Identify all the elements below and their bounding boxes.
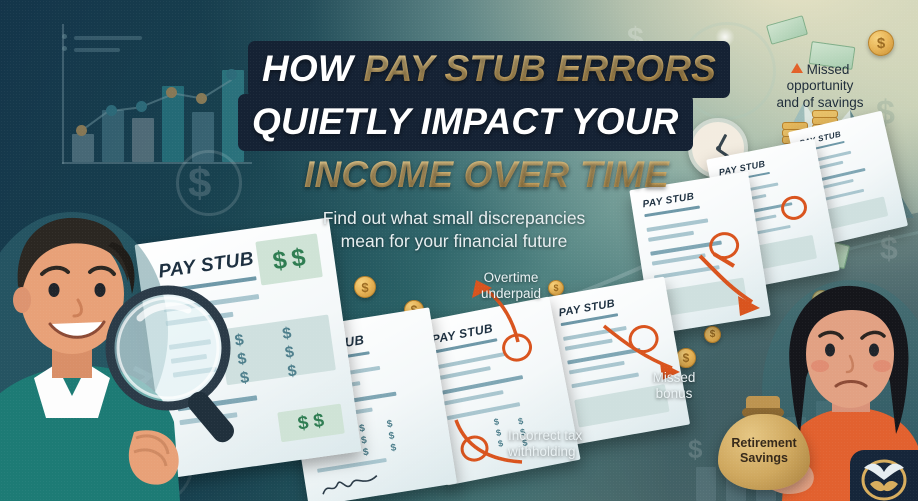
annotation-line: and of savings [776,95,863,110]
annotation-incorrect-tax: Incorrect tax withholding [508,428,628,461]
coin-icon: $ [868,30,894,56]
chart-marker [166,87,177,98]
subtitle-line-2: mean for your financial future [341,231,568,251]
annotation-line: opportunity [787,78,854,93]
title-line-1: HOW PAY STUB ERRORS [248,41,730,98]
title-segment-pay-stub-errors: PAY STUB ERRORS [364,48,717,89]
dollar-sign-icon: $ [880,232,898,264]
title-line-3: INCOME OVER TIME [290,147,683,204]
annotation-line: Missed [653,370,696,385]
chart-y-axis [62,24,64,164]
coin-icon: $ [354,276,376,298]
annotation-overtime-underpaid: Overtime underpaid [452,270,570,303]
chart-legend-line-2 [74,48,120,52]
chart-marker [106,105,117,116]
error-pointer-arrows [420,250,560,360]
annotation-line: Missed [807,62,850,77]
title-line-2: QUIETLY IMPACT YOUR [238,94,693,151]
chart-marker [136,101,147,112]
dollar-amount-badge: $$ [277,404,345,443]
brand-logo-badge[interactable] [850,450,918,501]
warning-triangle-icon [791,63,803,73]
annotation-missed-bonus: Missed bonus [626,370,722,403]
money-bag-line-2: Savings [740,451,788,465]
annotation-line: Incorrect tax [508,428,582,443]
chart-marker [76,125,87,136]
subtitle: Find out what small discrepancies mean f… [238,207,670,254]
annotation-line: withholding [508,444,576,459]
title-segment-how: HOW [262,48,364,89]
subtitle-line-1: Find out what small discrepancies [323,208,586,228]
dollar-sign-icon: $ [312,410,326,433]
annotation-line: bonus [656,386,693,401]
chart-legend-dot-2 [62,46,67,51]
chart-legend-dot-1 [62,34,67,39]
chart-legend-line-1 [74,36,142,40]
signature [319,469,383,498]
money-bag-retirement-savings: Retirement Savings [716,396,812,492]
chart-marker [226,69,237,80]
error-highlight-circle [779,194,809,223]
annotation-line: underpaid [481,286,541,301]
banknote-icon [766,15,808,45]
magnifying-glass-icon [96,282,256,452]
dollar-sign-icon: $ [688,436,702,462]
amount-column: $$$ [386,419,397,455]
dollar-sign-icon: $ [297,412,311,435]
annotation-missed-opportunity: Missed opportunity and of savings [740,62,900,111]
title-block: HOW PAY STUB ERRORS QUIETLY IMPACT YOUR … [238,41,670,204]
infographic-canvas: $ $ $ $ $ $ $ $ $ $ [0,0,918,501]
chart-marker [196,93,207,104]
money-bag-line-1: Retirement [731,436,796,450]
annotation-line: Overtime [484,270,539,285]
money-bag-label: Retirement Savings [716,436,812,467]
